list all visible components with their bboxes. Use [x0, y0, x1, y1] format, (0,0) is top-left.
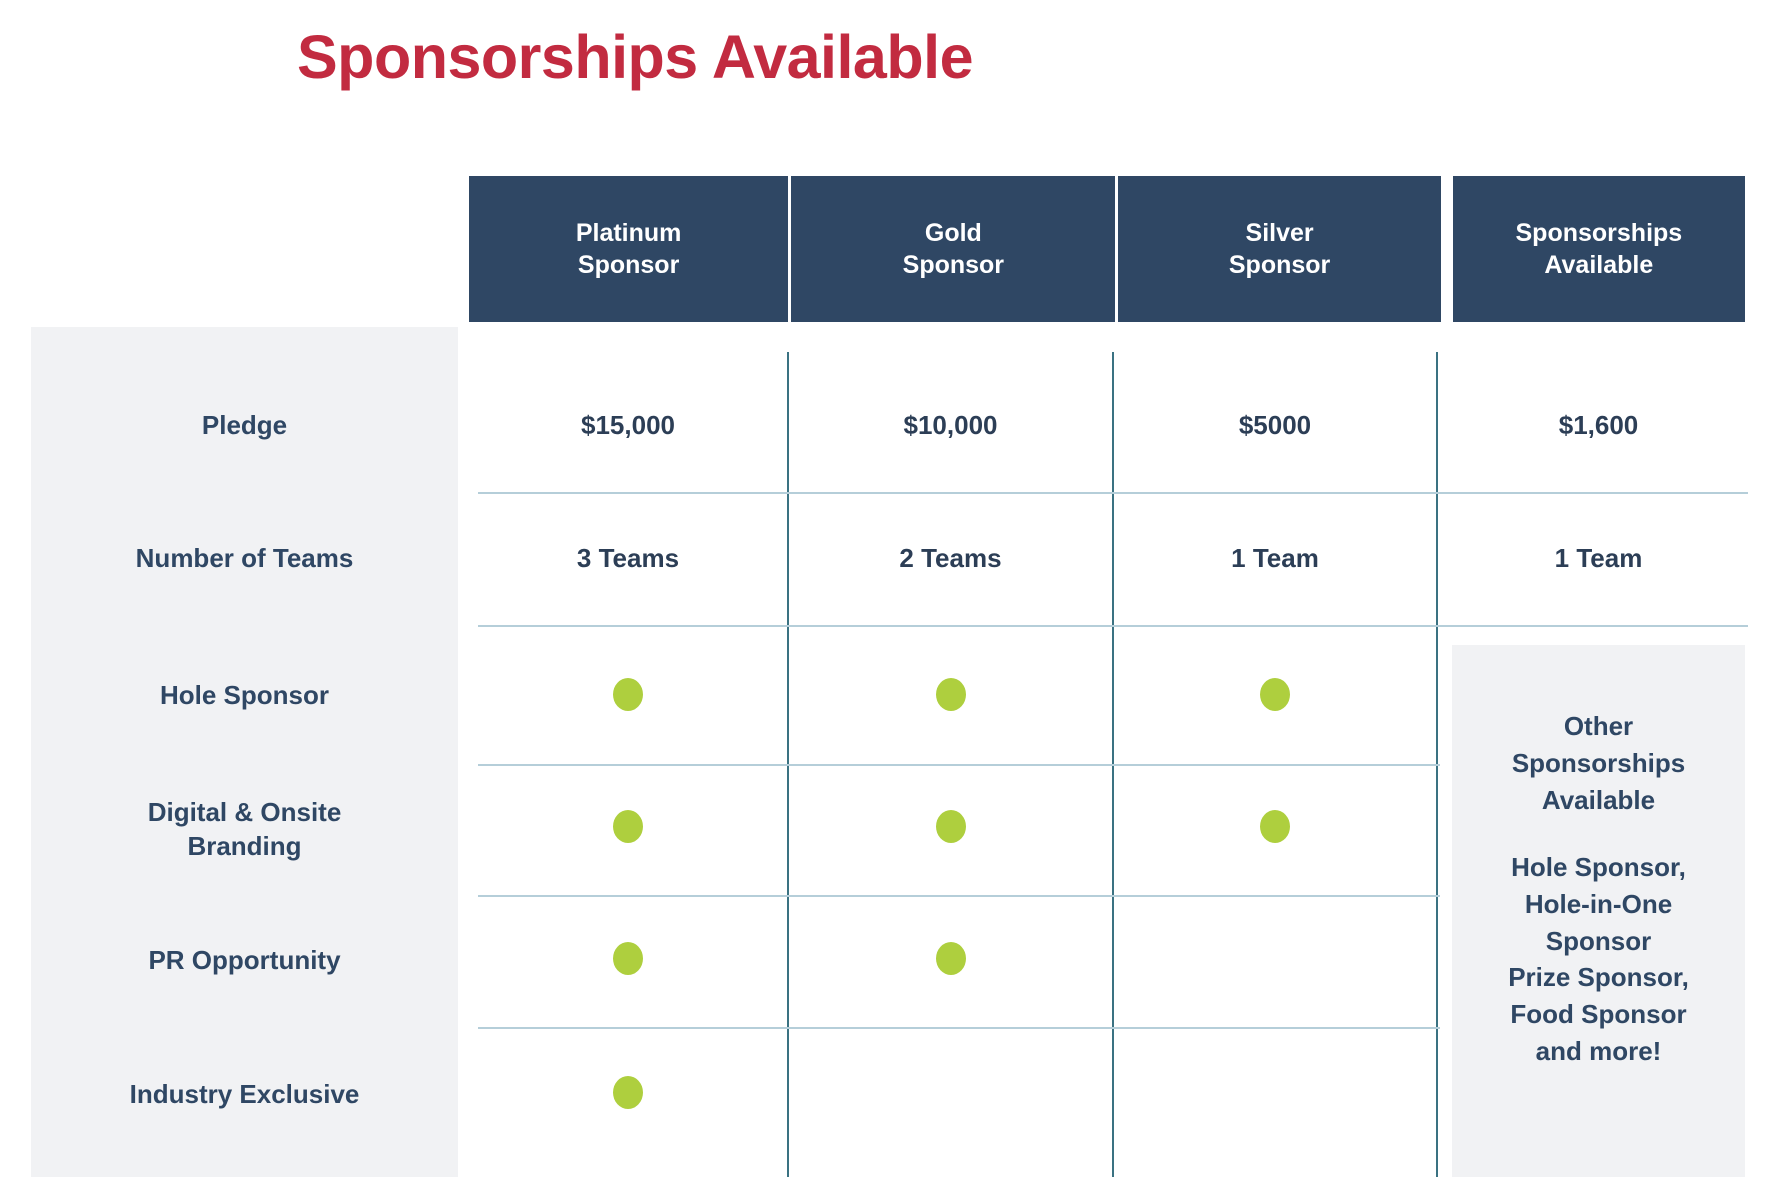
- cell-pledge-platinum: $15,000: [469, 409, 787, 442]
- column-header-gold: Gold Sponsor: [791, 176, 1115, 322]
- column-header-silver: Silver Sponsor: [1118, 176, 1440, 322]
- cell-teams-gold: 2 Teams: [789, 542, 1112, 575]
- other-item-hole-sponsor: Hole Sponsor,: [1452, 849, 1745, 886]
- cell-teams-silver: 1 Team: [1114, 542, 1436, 575]
- row-label-pr-opportunity: PR Opportunity: [31, 944, 458, 978]
- row-label-branding-line2: Branding: [31, 830, 458, 864]
- column-header-platinum-line2: Sponsor: [576, 249, 682, 281]
- column-header-platinum: Platinum Sponsor: [469, 176, 788, 322]
- cell-pledge-silver: $5000: [1114, 409, 1436, 442]
- row-divider-hole-sponsor: [478, 764, 1440, 766]
- check-dot-hole-sponsor-silver: [1260, 678, 1290, 711]
- column-header-gold-line1: Gold: [903, 217, 1004, 249]
- other-item-prize-sponsor: Prize Sponsor,: [1452, 959, 1745, 996]
- column-header-silver-line1: Silver: [1229, 217, 1330, 249]
- cell-pledge-gold: $10,000: [789, 409, 1112, 442]
- column-header-available-line1: Sponsorships: [1516, 217, 1683, 249]
- sponsorship-comparison-table: Platinum Sponsor Gold Sponsor Silver Spo…: [0, 0, 1765, 1190]
- check-dot-industry-exclusive-platinum: [613, 1076, 643, 1109]
- row-label-digital-onsite-branding: Digital & Onsite Branding: [31, 796, 458, 864]
- column-header-gold-line2: Sponsor: [903, 249, 1004, 281]
- row-label-hole-sponsor: Hole Sponsor: [31, 679, 458, 713]
- other-item-food-sponsor: Food Sponsor: [1452, 996, 1745, 1033]
- row-label-branding-line1: Digital & Onsite: [31, 796, 458, 830]
- check-dot-branding-platinum: [613, 810, 643, 843]
- row-divider-teams: [478, 625, 1748, 627]
- check-dot-hole-sponsor-platinum: [613, 678, 643, 711]
- check-dot-branding-gold: [936, 810, 966, 843]
- other-heading-line1: Other: [1452, 708, 1745, 745]
- check-dot-pr-platinum: [613, 942, 643, 975]
- check-dot-hole-sponsor-gold: [936, 678, 966, 711]
- column-header-platinum-line1: Platinum: [576, 217, 682, 249]
- other-item-hole-in-one: Hole-in-One: [1452, 886, 1745, 923]
- check-dot-pr-gold: [936, 942, 966, 975]
- other-sponsorships-panel: Other Sponsorships Available Hole Sponso…: [1452, 708, 1745, 1070]
- row-label-number-of-teams: Number of Teams: [31, 542, 458, 576]
- other-heading-line2: Sponsorships: [1452, 745, 1745, 782]
- label-column-background: [31, 327, 458, 1177]
- row-label-industry-exclusive: Industry Exclusive: [31, 1078, 458, 1112]
- other-item-and-more: and more!: [1452, 1033, 1745, 1070]
- row-label-pledge: Pledge: [31, 409, 458, 443]
- column-header-silver-line2: Sponsor: [1229, 249, 1330, 281]
- other-item-hole-in-one-sponsor: Sponsor: [1452, 923, 1745, 960]
- cell-pledge-available: $1,600: [1452, 409, 1745, 442]
- table-header-row: Platinum Sponsor Gold Sponsor Silver Spo…: [469, 176, 1745, 322]
- column-header-available: Sponsorships Available: [1453, 176, 1745, 322]
- row-divider-pr: [478, 1027, 1440, 1029]
- check-dot-branding-silver: [1260, 810, 1290, 843]
- other-panel-spacer: [1452, 819, 1745, 849]
- other-heading-line3: Available: [1452, 782, 1745, 819]
- row-divider-branding: [478, 895, 1440, 897]
- cell-teams-platinum: 3 Teams: [469, 542, 787, 575]
- cell-teams-available: 1 Team: [1452, 542, 1745, 575]
- row-divider-pledge: [478, 492, 1748, 494]
- column-header-available-line2: Available: [1516, 249, 1683, 281]
